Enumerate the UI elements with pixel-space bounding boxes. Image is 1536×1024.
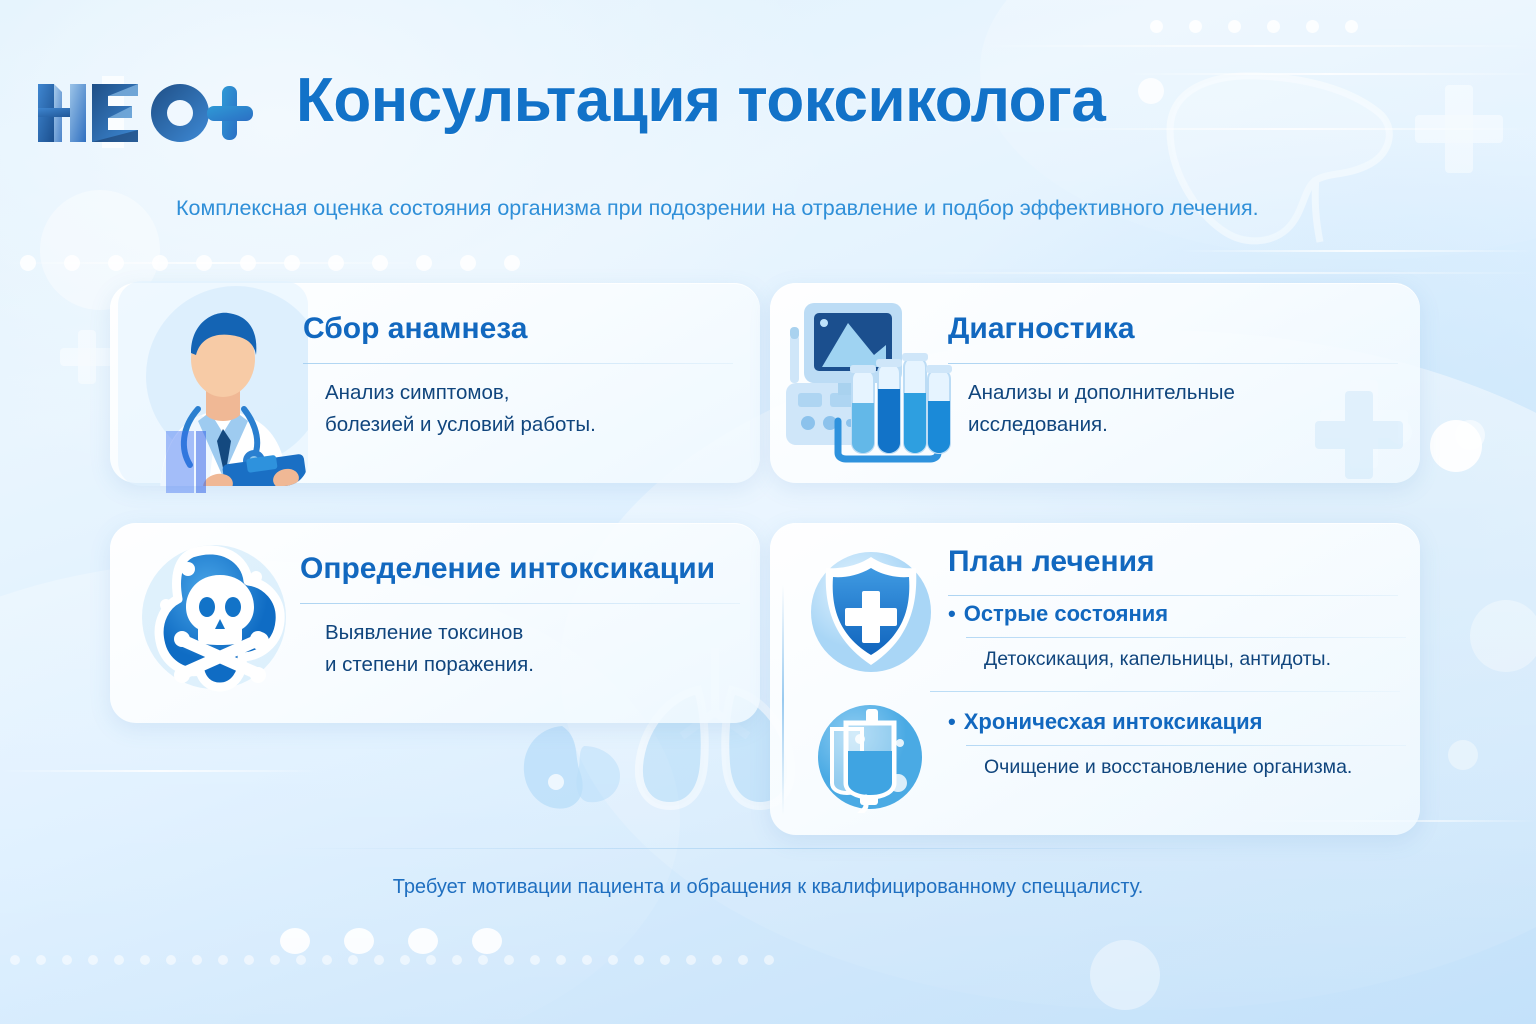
plan-item-divider xyxy=(966,637,1406,638)
card-title: План лечения xyxy=(948,545,1155,579)
logo-neo-plus xyxy=(30,72,270,152)
card-divider xyxy=(303,363,733,364)
plan-item-heading: •Острые состояния xyxy=(948,601,1408,627)
bullet-icon: • xyxy=(948,709,956,734)
plan-item-acute[interactable]: •Острые состояния Детоксикация, капельни… xyxy=(948,601,1408,671)
card-divider xyxy=(948,595,1398,596)
plan-item-chronic[interactable]: •Хроничесхая интоксикация Очищение и вос… xyxy=(948,709,1408,779)
skull-crossbones-icon xyxy=(136,541,306,706)
card-treatment-plan[interactable]: План лечения •Острые состояния Детоксика… xyxy=(770,523,1420,835)
card-title: Диагностика xyxy=(948,312,1135,346)
background-circle xyxy=(1455,420,1485,450)
card-title: Определение интоксикации xyxy=(300,552,715,586)
plan-item-description: Детоксикация, капельницы, антидоты. xyxy=(984,648,1408,671)
card-body: Анализ симптомов, болезией и условий раб… xyxy=(325,377,745,441)
card-body: Выявление токсинов и степени поражения. xyxy=(325,617,745,681)
background-line xyxy=(1180,250,1536,252)
page-header: Консультация токсиколога Комплексная оце… xyxy=(0,0,1536,240)
footer-divider xyxy=(290,848,1250,849)
background-line xyxy=(900,272,1536,274)
card-anamnesis[interactable]: Сбор анамнеза Анализ симптомов, болезией… xyxy=(110,283,760,483)
bullet-icon: • xyxy=(948,601,956,626)
card-divider xyxy=(300,603,740,604)
card-title: Сбор анамнеза xyxy=(303,312,527,346)
plan-item-divider xyxy=(966,745,1406,746)
card-intoxication[interactable]: Определение интоксикации Выявление токси… xyxy=(110,523,760,723)
footer-note: Требует мотивации пациента и обращения к… xyxy=(0,876,1536,899)
kidney-outline-icon xyxy=(518,722,638,812)
background-dot-row xyxy=(280,928,502,954)
card-diagnostic[interactable]: Диагностика Анализы и дополнительные исс… xyxy=(770,283,1420,483)
doctor-illustration-icon xyxy=(118,281,308,493)
medical-cross-icon xyxy=(1315,391,1403,479)
card-divider xyxy=(948,363,1398,364)
background-dot-row xyxy=(10,955,774,965)
plan-item-heading: •Хроничесхая интоксикация xyxy=(948,709,1408,735)
plan-item-description: Очищение и восстановление организма. xyxy=(984,756,1408,779)
medical-cross-icon xyxy=(60,330,114,384)
page-subtitle: Комплексная оценка состояния организма п… xyxy=(176,196,1416,221)
background-circle xyxy=(1470,600,1536,672)
plan-section-divider xyxy=(930,691,1400,692)
background-line xyxy=(0,770,320,772)
plan-accent-bar xyxy=(782,585,784,815)
background-dot-row xyxy=(20,255,520,271)
iv-drip-icon xyxy=(814,701,926,813)
lab-equipment-icon xyxy=(782,297,962,467)
background-circle xyxy=(1090,940,1160,1010)
shield-cross-icon xyxy=(806,547,936,677)
background-circle xyxy=(1448,740,1478,770)
page-title: Консультация токсиколога xyxy=(296,70,1105,132)
